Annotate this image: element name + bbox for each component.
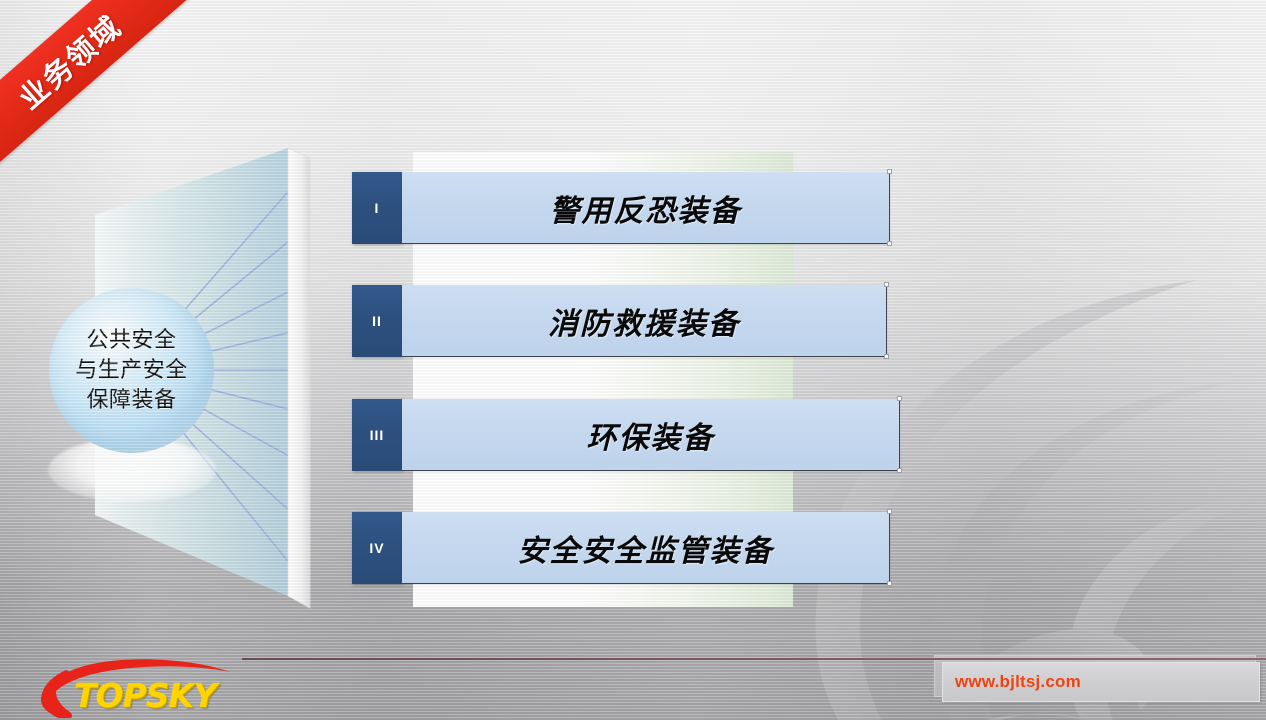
resize-handle-top-right[interactable] xyxy=(887,509,892,514)
category-row-2[interactable]: II 消防救援装备 xyxy=(352,285,887,357)
category-row-3[interactable]: III 环保装备 xyxy=(352,399,900,471)
row-numeral-4: IV xyxy=(369,540,384,556)
row-label-2: 消防救援装备 xyxy=(548,299,740,343)
row-label-3: 环保装备 xyxy=(587,413,715,457)
category-row-4[interactable]: IV 安全安全监管装备 xyxy=(352,512,890,584)
category-row-1[interactable]: I 警用反恐装备 xyxy=(352,172,890,244)
row-numeral-1: I xyxy=(375,200,380,216)
row-numeral-3: III xyxy=(370,427,385,443)
row-numeral-2: II xyxy=(372,313,382,329)
row-numeral-box-4: IV xyxy=(352,512,402,584)
footer-divider-line xyxy=(242,658,1266,660)
corner-banner-label: 业务领域 xyxy=(8,4,129,117)
corner-banner: 业务领域 xyxy=(0,0,230,185)
row-numeral-box-3: III xyxy=(352,399,402,471)
resize-handle-bottom-right[interactable] xyxy=(887,581,892,586)
row-label-1: 警用反恐装备 xyxy=(550,186,742,230)
website-url: www.bjltsj.com xyxy=(955,672,1081,692)
topsky-logo[interactable]: TOPSKY xyxy=(22,656,252,718)
row-bar-1[interactable]: 警用反恐装备 xyxy=(402,172,890,244)
resize-handle-bottom-right[interactable] xyxy=(884,354,889,359)
resize-handle-bottom-right[interactable] xyxy=(897,468,902,473)
slide-canvas: 公共安全 与生产安全 保障装备 I 警用反恐装备 II 消防救援装备 xyxy=(0,0,1266,720)
row-label-4: 安全安全监管装备 xyxy=(518,526,774,570)
row-numeral-box-1: I xyxy=(352,172,402,244)
resize-handle-top-right[interactable] xyxy=(887,169,892,174)
resize-handle-top-right[interactable] xyxy=(884,282,889,287)
resize-handle-bottom-right[interactable] xyxy=(887,241,892,246)
row-bar-3[interactable]: 环保装备 xyxy=(402,399,900,471)
logo-wordmark: TOPSKY xyxy=(74,676,216,715)
resize-handle-top-right[interactable] xyxy=(897,396,902,401)
row-numeral-box-2: II xyxy=(352,285,402,357)
row-bar-4[interactable]: 安全安全监管装备 xyxy=(402,512,890,584)
url-plate[interactable]: www.bjltsj.com xyxy=(942,662,1260,702)
row-bar-2[interactable]: 消防救援装备 xyxy=(402,285,887,357)
corner-banner-ribbon: 业务领域 xyxy=(0,0,214,185)
